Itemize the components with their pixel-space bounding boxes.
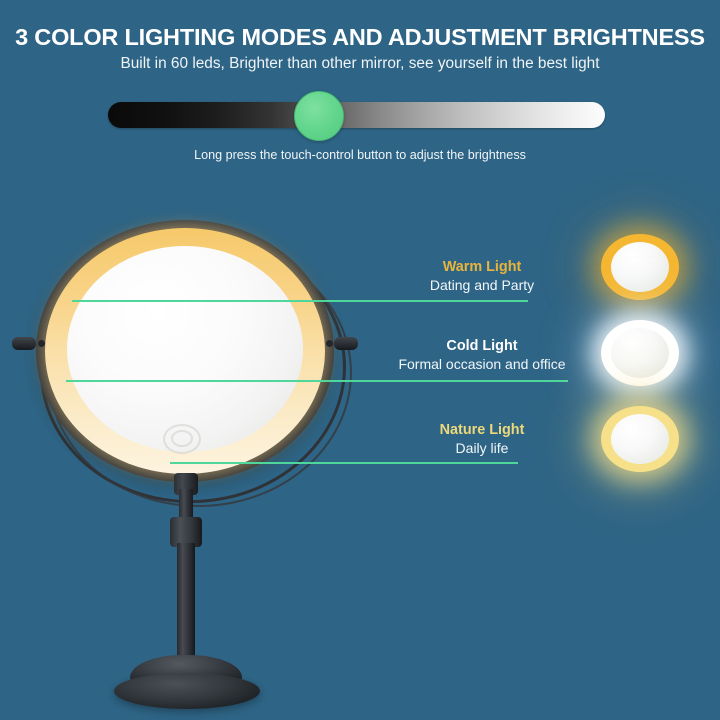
stand-base	[114, 673, 260, 709]
mirror-pivot-pin-left	[38, 340, 45, 347]
mode-subtitle-nature-light: Daily life	[332, 440, 632, 456]
page-subtitle: Built in 60 leds, Brighter than other mi…	[0, 55, 720, 73]
mode-title-nature-light: Nature Light	[332, 422, 632, 438]
swatch-nature-light	[601, 406, 679, 472]
brightness-slider-track[interactable]	[108, 102, 605, 128]
mirror-frame	[36, 220, 334, 482]
connector-line-cold	[66, 380, 568, 382]
swatch-glass-nature	[611, 414, 669, 464]
touch-control-button-icon[interactable]	[163, 424, 201, 454]
mirror-led-ring	[45, 228, 325, 474]
led-vanity-mirror-illustration	[18, 205, 378, 705]
connector-line-warm	[72, 300, 528, 302]
mode-subtitle-cold-light: Formal occasion and office	[332, 356, 632, 372]
swatch-glass-cold	[611, 328, 669, 378]
swatch-warm-light	[601, 234, 679, 300]
page-title: 3 COLOR LIGHTING MODES AND ADJUSTMENT BR…	[0, 24, 720, 51]
connector-line-nature	[170, 462, 518, 464]
brightness-slider-caption: Long press the touch-control button to a…	[0, 148, 720, 162]
mode-subtitle-warm-light: Dating and Party	[332, 277, 632, 293]
infographic-canvas: 3 COLOR LIGHTING MODES AND ADJUSTMENT BR…	[0, 0, 720, 720]
swatch-cold-light	[601, 320, 679, 386]
mirror-surface	[67, 246, 303, 452]
mirror-pivot-knob-left[interactable]	[12, 337, 36, 350]
stand-pole-lower	[177, 543, 195, 665]
brightness-slider-thumb[interactable]	[294, 91, 344, 141]
mode-title-cold-light: Cold Light	[332, 338, 632, 354]
swatch-glass-warm	[611, 242, 669, 292]
brightness-slider[interactable]	[108, 102, 605, 128]
mode-title-warm-light: Warm Light	[332, 259, 632, 275]
